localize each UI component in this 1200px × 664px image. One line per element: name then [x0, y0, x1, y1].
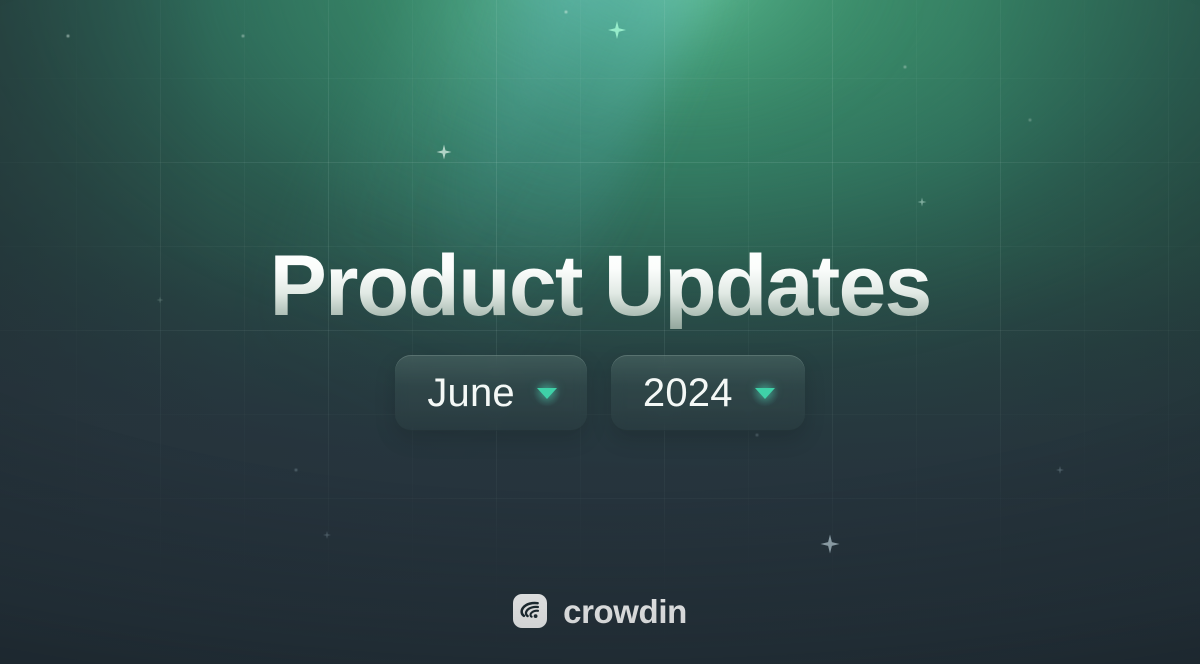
chevron-down-icon[interactable]	[747, 375, 783, 411]
crowdin-wordmark: crowdin	[563, 595, 687, 628]
month-dropdown-label: June	[427, 373, 515, 413]
chevron-down-icon[interactable]	[529, 375, 565, 411]
month-dropdown[interactable]: June	[395, 355, 587, 431]
period-selectors: June 2024	[395, 355, 804, 431]
banner-content: Product Updates June 2024	[0, 0, 1200, 664]
year-dropdown-label: 2024	[643, 373, 733, 413]
page-title: Product Updates	[269, 243, 930, 329]
crowdin-logo-icon	[513, 594, 547, 628]
crowdin-brand-lockup[interactable]: crowdin	[0, 594, 1200, 628]
product-updates-banner: Product Updates June 2024	[0, 0, 1200, 664]
year-dropdown[interactable]: 2024	[611, 355, 805, 431]
